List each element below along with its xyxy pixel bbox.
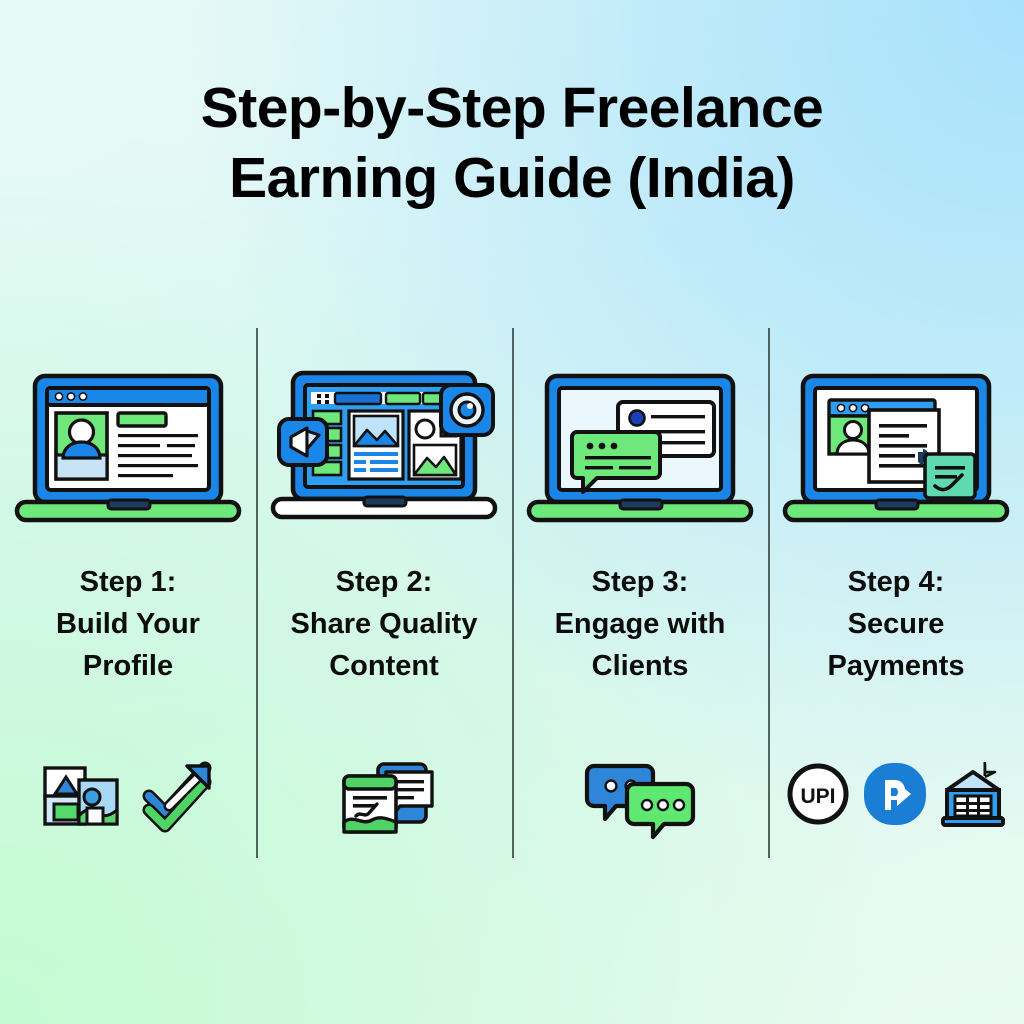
step-column-3: Step 3: Engage with Clients xyxy=(512,360,768,900)
stacked-posts-icon xyxy=(334,760,434,838)
step-4-artwork xyxy=(768,360,1024,525)
page-title: Step-by-Step Freelance Earning Guide (In… xyxy=(0,74,1024,213)
portfolio-gallery-icon xyxy=(41,760,121,832)
step-1-title-line-2: Profile xyxy=(83,650,173,682)
step-2-label: Step 2: Share Quality Content xyxy=(256,561,512,687)
step-1-icon-row xyxy=(0,760,256,832)
bank-building-icon xyxy=(939,760,1007,828)
step-1-label: Step 1: Build Your Profile xyxy=(0,561,256,687)
paytm-wallet-icon xyxy=(863,762,927,826)
step-3-label: Step 3: Engage with Clients xyxy=(512,561,768,687)
laptop-content-dashboard-illustration xyxy=(265,367,503,525)
step-4-icon-row: UPI xyxy=(768,760,1024,828)
step-1-title-line-1: Build Your xyxy=(56,608,200,640)
step-2-artwork xyxy=(256,360,512,525)
infographic-canvas: Step-by-Step Freelance Earning Guide (In… xyxy=(0,0,1024,1024)
upi-badge-icon: UPI xyxy=(785,761,851,827)
growth-arrow-check-icon xyxy=(143,760,215,832)
step-3-number: Step 3: xyxy=(592,566,689,598)
step-4-title-line-1: Secure xyxy=(848,608,945,640)
upi-badge-text: UPI xyxy=(800,785,835,808)
step-4-label: Step 4: Secure Payments xyxy=(768,561,1024,687)
page-title-line-2: Earning Guide (India) xyxy=(0,144,1024,214)
step-2-number: Step 2: xyxy=(336,566,433,598)
step-column-1: Step 1: Build Your Profile xyxy=(0,360,256,900)
step-1-number: Step 1: xyxy=(80,566,177,598)
chat-bubbles-icon xyxy=(584,760,696,836)
step-column-2: Step 2: Share Quality Content xyxy=(256,360,512,900)
step-3-artwork xyxy=(512,360,768,525)
step-1-artwork xyxy=(0,360,256,525)
step-4-title-line-2: Payments xyxy=(827,650,964,682)
step-2-title-line-1: Share Quality xyxy=(291,608,478,640)
step-2-icon-row xyxy=(256,760,512,838)
step-column-4: Step 4: Secure Payments UPI xyxy=(768,360,1024,900)
step-3-icon-row xyxy=(512,760,768,836)
step-4-number: Step 4: xyxy=(848,566,945,598)
page-title-line-1: Step-by-Step Freelance xyxy=(0,74,1024,144)
laptop-invoice-approval-illustration xyxy=(783,370,1009,525)
laptop-profile-page-illustration xyxy=(15,370,241,525)
step-2-title-line-2: Content xyxy=(329,650,439,682)
step-3-title-line-1: Engage with xyxy=(555,608,726,640)
step-3-title-line-2: Clients xyxy=(592,650,689,682)
laptop-chat-bubbles-illustration xyxy=(527,370,753,525)
